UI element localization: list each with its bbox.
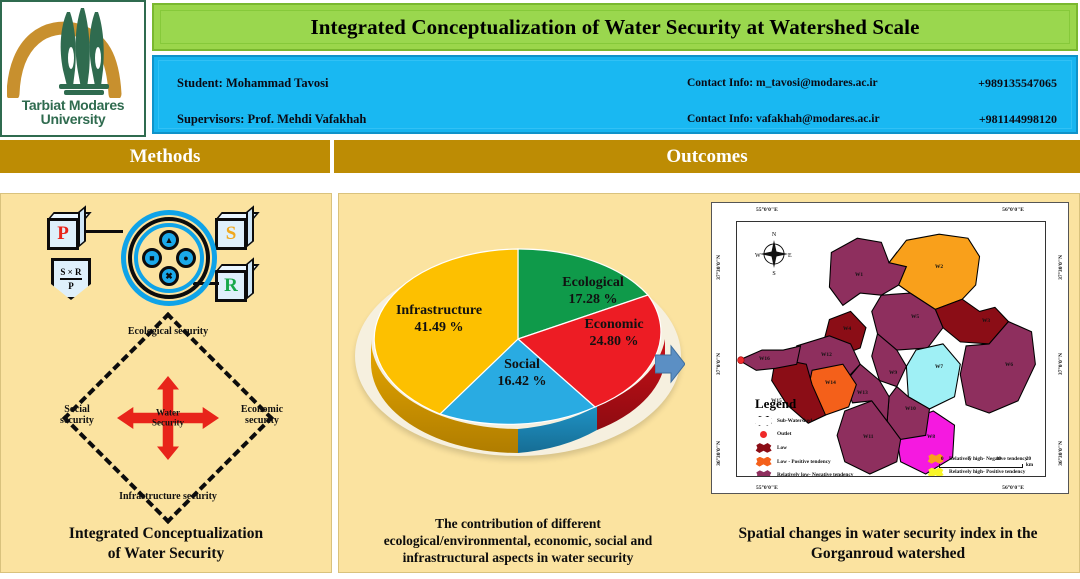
watershed-label-w14: W14 bbox=[825, 380, 836, 386]
dial-node-circle-icon: ● bbox=[176, 248, 196, 268]
methods-caption-line-2: of Water Security bbox=[1, 544, 331, 564]
watershed-label-w2: W2 bbox=[935, 264, 943, 270]
pie-label-economic-value: 24.80 % bbox=[559, 333, 669, 350]
scale-tick-0: 0 bbox=[941, 457, 944, 462]
legend-item-low: Low bbox=[755, 441, 923, 455]
pie-chart-caption: The contribution of different ecological… bbox=[339, 515, 697, 566]
watershed-label-w8: W8 bbox=[927, 434, 935, 440]
pie-caption-line-3: infrastructural aspects in water securit… bbox=[339, 549, 697, 566]
scale-tick-3: 20 bbox=[1026, 457, 1031, 462]
legend-label-outlet: Outlet bbox=[777, 431, 791, 437]
flow-arrow-icon bbox=[655, 344, 685, 384]
map-subpanel: 55°0'0"E 56°0'0"E 55°0'0"E 56°0'0"E 37°3… bbox=[697, 194, 1079, 572]
pie-label-ecological-value: 17.28 % bbox=[533, 291, 653, 308]
diamond-label-social-l2: security bbox=[47, 415, 107, 426]
student-contact[interactable]: Contact Info: m_tavosi@modares.ac.ir bbox=[687, 77, 878, 89]
map-panel-caption: Spatial changes in water security index … bbox=[697, 524, 1079, 564]
methods-panel-caption: Integrated Conceptualization of Water Se… bbox=[1, 524, 331, 564]
pie-chart-subpanel: Ecological 17.28 % Economic 24.80 % Soci… bbox=[339, 194, 697, 572]
scale-unit: km bbox=[1026, 463, 1033, 468]
banner-methods: Methods bbox=[0, 140, 330, 173]
watershed-label-w9: W9 bbox=[889, 370, 897, 376]
coord-top-left: 55°0'0"E bbox=[756, 207, 778, 213]
diamond-label-social: Social security bbox=[47, 404, 107, 426]
watershed-label-w3: W3 bbox=[982, 318, 990, 324]
methods-caption-line-1: Integrated Conceptualization bbox=[1, 524, 331, 544]
pie-label-social-value: 16.42 % bbox=[477, 373, 567, 390]
legend-label-low-positive: Low - Positive tendency bbox=[777, 459, 831, 465]
map-canvas[interactable]: N S W E bbox=[736, 221, 1046, 477]
legend-swatch-low-icon bbox=[755, 443, 772, 453]
map-outlet-marker bbox=[738, 357, 745, 364]
methods-panel: P S × R P S R bbox=[0, 193, 332, 573]
pie-label-infrastructure-name: Infrastructure bbox=[373, 302, 505, 319]
watershed-label-w6: W6 bbox=[1005, 362, 1013, 368]
water-security-core-label: Water Security bbox=[152, 409, 184, 428]
banner-outcomes-label: Outcomes bbox=[666, 146, 747, 168]
map-caption-line-2: Gorganroud watershed bbox=[697, 544, 1079, 564]
info-row-supervisor: Supervisors: Prof. Mehdi Vafakhah Contac… bbox=[159, 107, 1071, 131]
header-right: Integrated Conceptualization of Water Se… bbox=[146, 0, 1080, 137]
legend-label-low: Low bbox=[777, 445, 787, 451]
coord-bottom-left: 55°0'0"E bbox=[756, 485, 778, 491]
supervisor-name: Supervisors: Prof. Mehdi Vafakhah bbox=[177, 112, 366, 127]
pie-label-economic-name: Economic bbox=[559, 316, 669, 333]
dial-node-triangle-icon: ▲ bbox=[159, 230, 179, 250]
diamond-label-economic-l1: Economic bbox=[231, 404, 293, 415]
legend-swatch-sub-watershed-icon bbox=[755, 416, 772, 426]
legend-item-sub-watershed: Sub-Watershed bbox=[755, 414, 923, 428]
shield-denominator: P bbox=[68, 281, 74, 291]
legend-swatch-low-positive-icon bbox=[755, 457, 772, 467]
pie-label-infrastructure-value: 41.49 % bbox=[373, 319, 505, 336]
coord-left-mid: 37°0'0"N bbox=[716, 353, 722, 375]
cube-r-letter: R bbox=[215, 270, 247, 302]
outcomes-panel: Ecological 17.28 % Economic 24.80 % Soci… bbox=[338, 193, 1080, 573]
watershed-label-w1: W1 bbox=[855, 272, 863, 278]
coord-bottom-right: 56°0'0"E bbox=[1002, 485, 1024, 491]
legend-swatch-rel-high-positive-icon bbox=[927, 467, 944, 477]
cube-s-letter: S bbox=[215, 218, 247, 250]
methods-icon-row: P S × R P S R bbox=[47, 206, 257, 314]
legend-label-sub-watershed: Sub-Watershed bbox=[777, 418, 812, 424]
poster-title-bar: Integrated Conceptualization of Water Se… bbox=[152, 3, 1078, 51]
pie-slice-label-social: Social 16.42 % bbox=[477, 356, 567, 390]
watershed-label-w4: W4 bbox=[843, 326, 851, 332]
cube-p-icon: P bbox=[47, 212, 87, 250]
risk-formula-shield-icon: S × R P bbox=[51, 258, 91, 300]
pie-slice-label-economic: Economic 24.80 % bbox=[559, 316, 669, 350]
legend-item-low-positive: Low - Positive tendency bbox=[755, 455, 923, 469]
shield-numerator: S × R bbox=[60, 267, 81, 277]
section-banners: Methods Outcomes bbox=[0, 140, 1080, 173]
logo-artwork-icon bbox=[7, 6, 139, 98]
university-logo: Tarbiat Modares University bbox=[0, 0, 146, 137]
diamond-label-economic-l2: security bbox=[231, 415, 293, 426]
map-legend-column-left: Sub-Watershed Outlet Low bbox=[755, 414, 923, 477]
cube-r-icon: R bbox=[215, 264, 255, 302]
legend-label-rel-low-negative: Relatively low- Negative tendency bbox=[777, 472, 853, 477]
legend-swatch-rel-low-negative-icon bbox=[755, 470, 772, 477]
map-frame: 55°0'0"E 56°0'0"E 55°0'0"E 56°0'0"E 37°3… bbox=[711, 202, 1069, 494]
author-info-bar: Student: Mohammad Tavosi Contact Info: m… bbox=[152, 55, 1078, 134]
legend-item-outlet: Outlet bbox=[755, 428, 923, 442]
dial-node-square-icon: ■ bbox=[142, 248, 162, 268]
pie-caption-line-1: The contribution of different bbox=[339, 515, 697, 532]
watershed-label-w7: W7 bbox=[935, 364, 943, 370]
dial-node-cross-icon: ✖ bbox=[159, 266, 179, 286]
banner-outcomes: Outcomes bbox=[334, 140, 1080, 173]
legend-item-rel-low-negative: Relatively low- Negative tendency bbox=[755, 468, 923, 477]
supervisor-contact[interactable]: Contact Info: vafakhah@modares.ac.ir bbox=[687, 113, 880, 125]
connector-left bbox=[85, 230, 123, 233]
supervisor-phone: +981144998120 bbox=[979, 112, 1057, 127]
student-name: Student: Mohammad Tavosi bbox=[177, 76, 328, 91]
logo-line-2: University bbox=[41, 112, 106, 126]
scale-tick-2: 10 bbox=[996, 457, 1001, 462]
coord-top-right: 56°0'0"E bbox=[1002, 207, 1024, 213]
poster-header: Tarbiat Modares University Integrated Co… bbox=[0, 0, 1080, 137]
cube-s-icon: S bbox=[215, 212, 255, 250]
student-phone: +989135547065 bbox=[978, 76, 1057, 91]
cube-p-letter: P bbox=[47, 218, 79, 250]
info-row-student: Student: Mohammad Tavosi Contact Info: m… bbox=[159, 71, 1071, 95]
diamond-label-ecological: Ecological security bbox=[128, 326, 208, 337]
coord-left-lower: 36°30'0"N bbox=[716, 441, 722, 466]
coord-right-lower: 36°30'0"N bbox=[1058, 441, 1064, 466]
diamond-label-economic: Economic security bbox=[231, 404, 293, 426]
pie-slice-label-ecological: Ecological 17.28 % bbox=[533, 274, 653, 308]
watershed-label-w12: W12 bbox=[821, 352, 832, 358]
assessment-dial-icon: ▲ ■ ● ✖ bbox=[121, 210, 217, 306]
watershed-label-w5: W5 bbox=[911, 314, 919, 320]
water-security-diamond: Ecological security Social security Econ… bbox=[29, 312, 307, 524]
coord-right-mid: 37°0'0"N bbox=[1058, 353, 1064, 375]
core-line-2: Security bbox=[152, 418, 184, 428]
banner-methods-label: Methods bbox=[130, 146, 201, 168]
map-caption-line-1: Spatial changes in water security index … bbox=[697, 524, 1079, 544]
pie-label-social-name: Social bbox=[477, 356, 567, 373]
pie-chart: Ecological 17.28 % Economic 24.80 % Soci… bbox=[347, 204, 689, 494]
watershed-label-w10: W10 bbox=[905, 406, 916, 412]
watershed-label-w16: W16 bbox=[759, 356, 770, 362]
legend-label-rel-high-positive: Relatively high- Positive tendency bbox=[949, 469, 1025, 475]
page-title: Integrated Conceptualization of Water Se… bbox=[310, 15, 919, 40]
pie-slice-label-infrastructure: Infrastructure 41.49 % bbox=[373, 302, 505, 336]
map-legend-title: Legend bbox=[755, 396, 796, 412]
map-scale-bar: 0 5 10 20 km bbox=[939, 457, 1033, 468]
pie-caption-line-2: ecological/environmental, economic, soci… bbox=[339, 532, 697, 549]
legend-swatch-outlet-icon bbox=[760, 431, 767, 438]
pie-label-ecological-name: Ecological bbox=[533, 274, 653, 291]
diamond-label-social-l1: Social bbox=[47, 404, 107, 415]
diamond-label-infrastructure: Infrastructure security bbox=[119, 491, 217, 502]
coord-right-upper: 37°30'0"N bbox=[1058, 255, 1064, 280]
watershed-label-w13: W13 bbox=[857, 390, 868, 396]
scale-tick-1: 5 bbox=[969, 457, 972, 462]
content-panels: P S × R P S R bbox=[0, 193, 1080, 573]
coord-left-upper: 37°30'0"N bbox=[716, 255, 722, 280]
poster-root: Tarbiat Modares University Integrated Co… bbox=[0, 0, 1080, 579]
logo-line-1: Tarbiat Modares bbox=[22, 98, 125, 112]
